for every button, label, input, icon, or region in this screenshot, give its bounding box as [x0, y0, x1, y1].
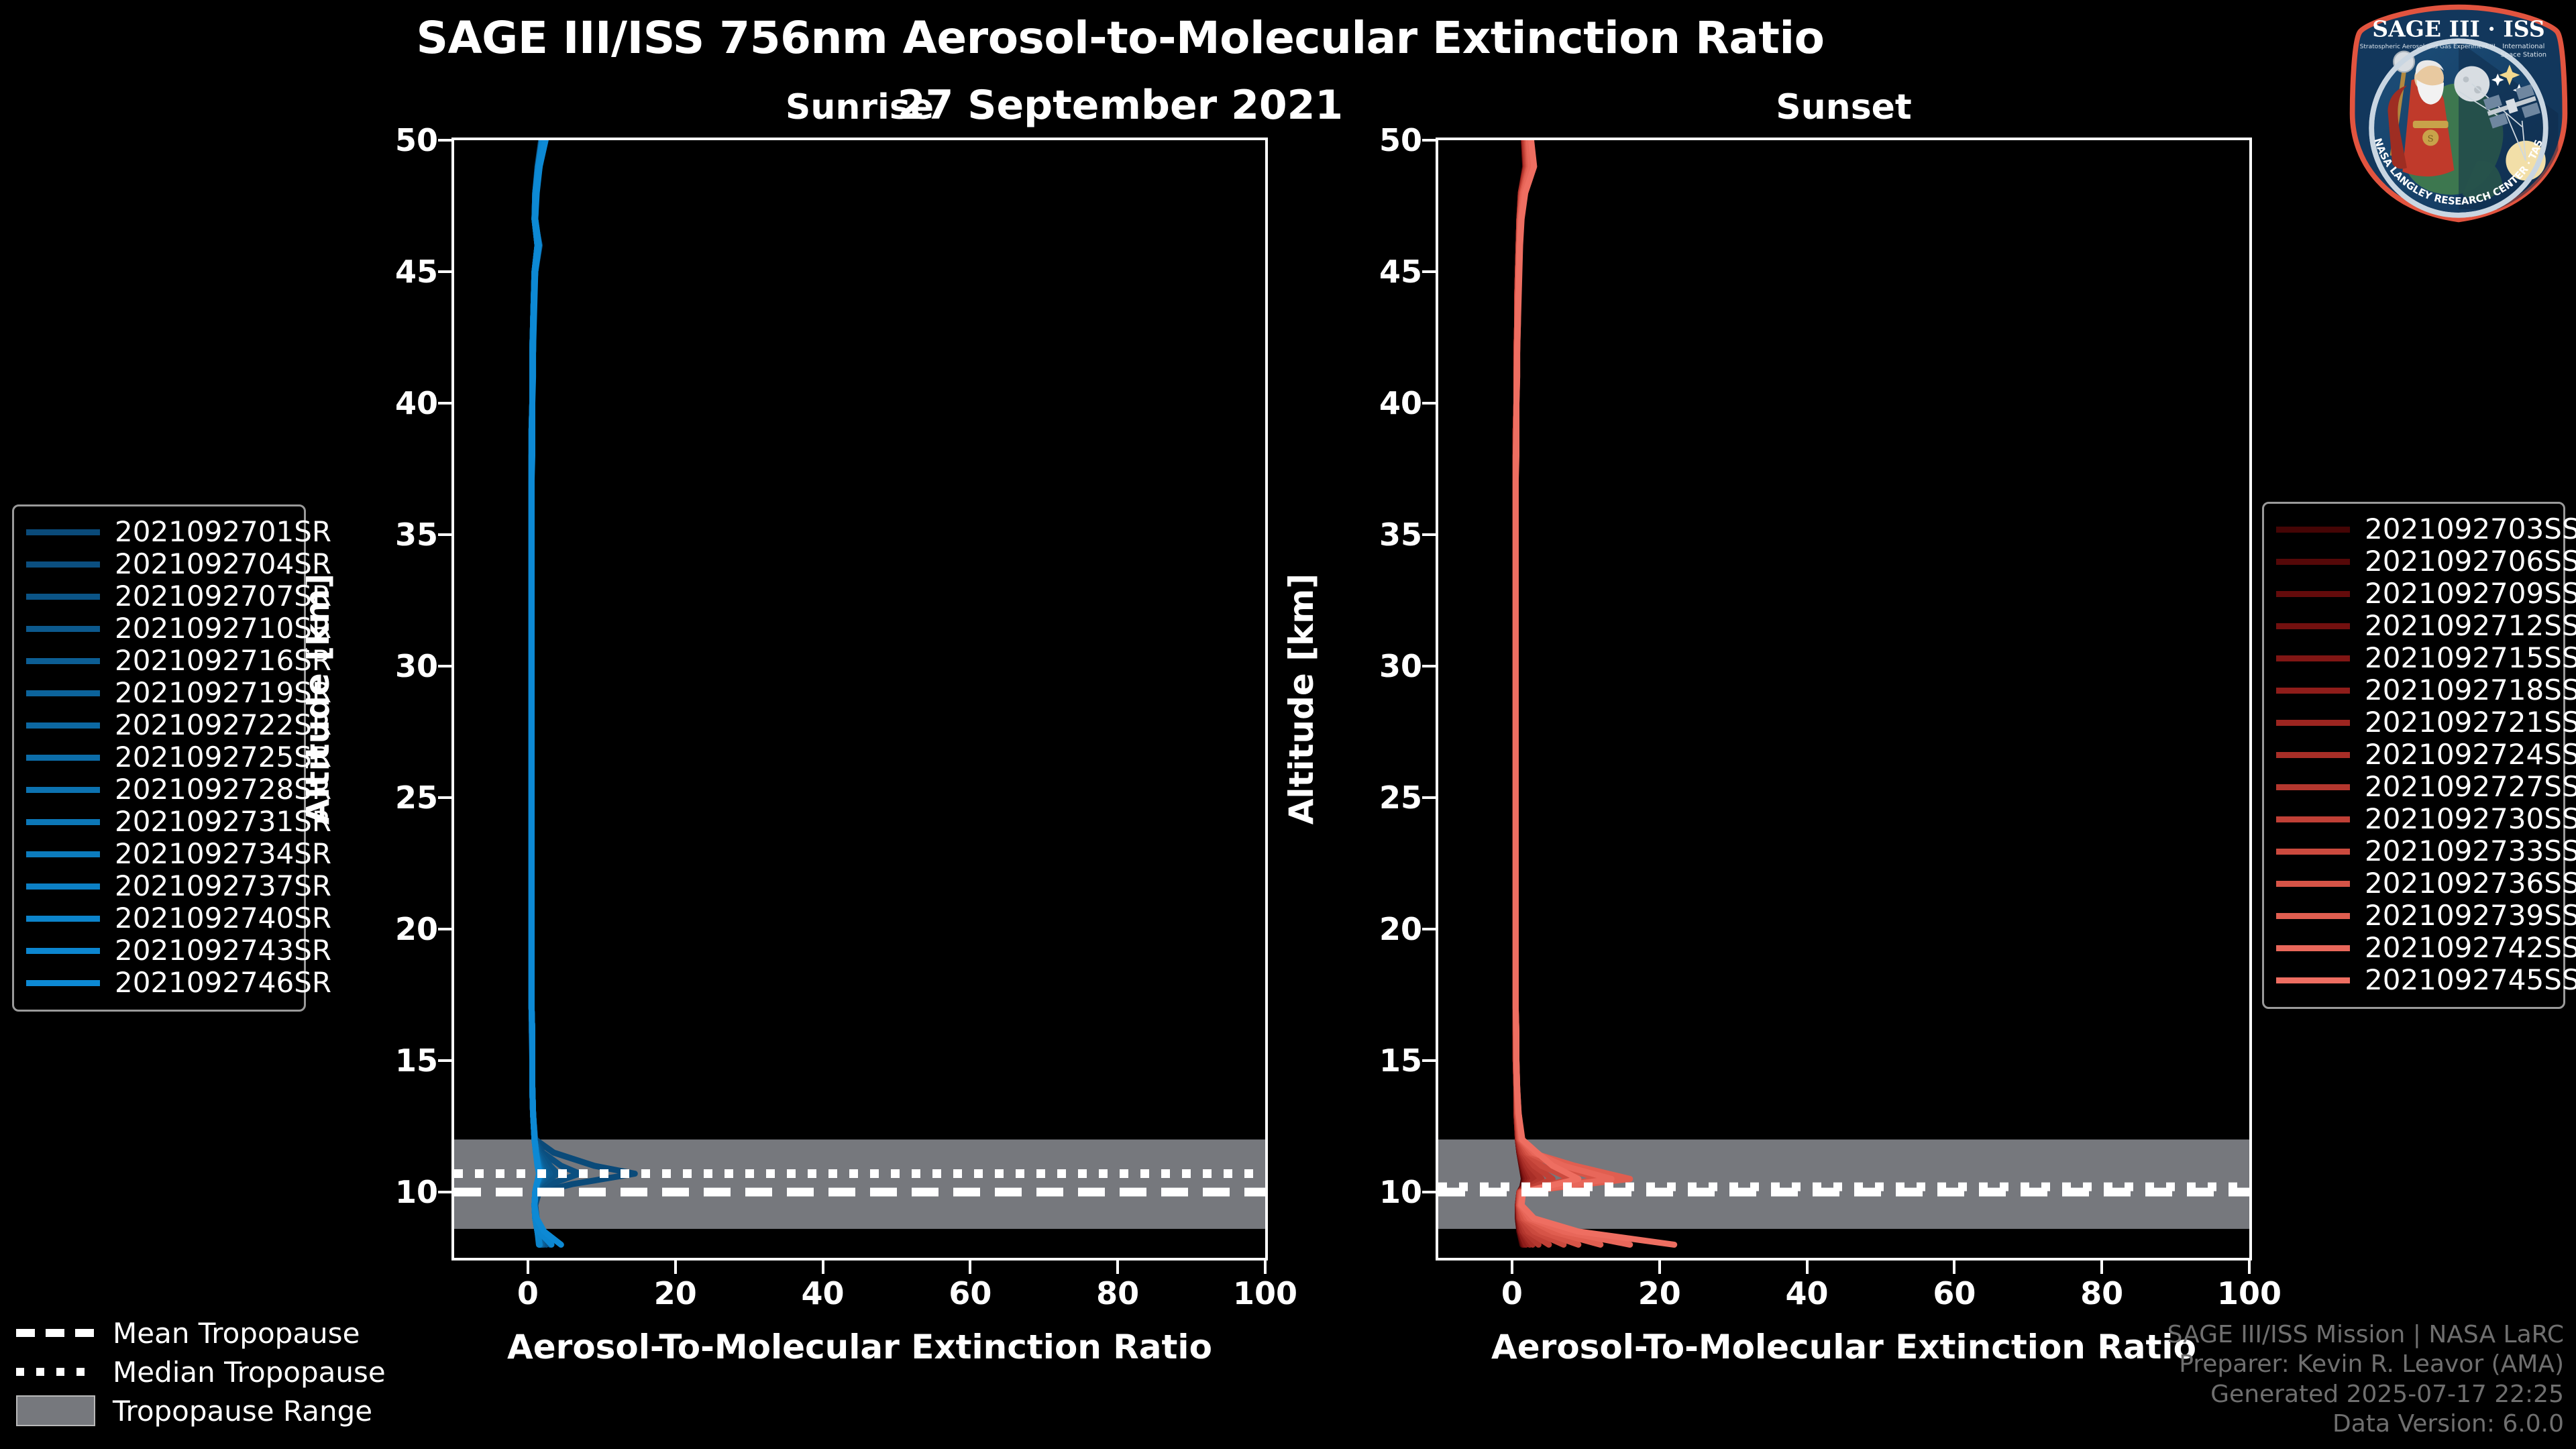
series-line-2021092742SS	[1515, 140, 1629, 1244]
legend-color-swatch	[2276, 752, 2350, 758]
y-tick-mark	[438, 796, 451, 799]
series-line-2021092701SR	[531, 140, 635, 1244]
sunset-legend-item[interactable]: 2021092706SS	[2276, 545, 2551, 578]
sunrise-panel-title: Sunrise	[451, 87, 1268, 127]
sunset-legend-item[interactable]: 2021092745SS	[2276, 964, 2551, 996]
legend-color-swatch	[2276, 881, 2350, 887]
legend-item-label: 2021092710SR	[115, 614, 331, 643]
y-tick-label: 50	[1328, 122, 1422, 158]
x-tick-label: 40	[769, 1275, 877, 1311]
x-tick-mark	[1511, 1260, 1513, 1274]
y-tick-mark	[438, 928, 451, 930]
footer-line: Data Version: 6.0.0	[2167, 1409, 2564, 1440]
legend-color-swatch	[2276, 591, 2350, 597]
legend-item-label: 2021092724SS	[2365, 741, 2576, 769]
legend-color-swatch	[2276, 913, 2350, 919]
legend-item-label: 2021092718SS	[2365, 676, 2576, 704]
logo-subtitle-left: Stratospheric Aerosol and Gas Experiment…	[2360, 44, 2495, 50]
legend-item-label: 2021092701SR	[115, 518, 331, 546]
y-tick-mark	[1422, 270, 1436, 273]
legend-item-label: 2021092703SS	[2365, 515, 2576, 543]
legend-color-swatch	[2276, 720, 2350, 726]
y-tick-mark	[1422, 139, 1436, 142]
legend-item-label: 2021092742SS	[2365, 934, 2576, 962]
y-tick-mark	[438, 533, 451, 536]
x-tick-mark	[1658, 1260, 1661, 1274]
footer-line: Generated 2025-07-17 22:25	[2167, 1380, 2564, 1410]
y-tick-label: 35	[344, 517, 438, 553]
sunrise-legend-item[interactable]: 2021092722SR	[26, 709, 292, 741]
tropopause-legend: Mean TropopauseMedian TropopauseTropopau…	[16, 1313, 378, 1430]
x-tick-mark	[2100, 1260, 2103, 1274]
sunrise-legend-item[interactable]: 2021092731SR	[26, 806, 292, 838]
y-tick-mark	[1422, 796, 1436, 799]
tropopause-legend-item: Median Tropopause	[16, 1352, 378, 1391]
legend-item-label: 2021092736SS	[2365, 869, 2576, 898]
sunset-legend-item[interactable]: 2021092721SS	[2276, 706, 2551, 739]
sunrise-plot-area	[451, 138, 1268, 1260]
legend-color-swatch	[2276, 945, 2350, 951]
tropopause-legend-label: Tropopause Range	[113, 1395, 372, 1428]
legend-item-label: 2021092733SS	[2365, 837, 2576, 865]
y-tick-label: 50	[344, 122, 438, 158]
sunset-legend-item[interactable]: 2021092730SS	[2276, 803, 2551, 835]
sunset-legend-item[interactable]: 2021092718SS	[2276, 674, 2551, 706]
series-line-2021092739SS	[1515, 140, 1629, 1244]
sunset-legend-item[interactable]: 2021092703SS	[2276, 513, 2551, 545]
y-tick-mark	[438, 1191, 451, 1193]
legend-item-label: 2021092739SS	[2365, 902, 2576, 930]
sage-iii-iss-mission-patch-logo: S SAGE III · ISS Stratospheric Aerosol a…	[2348, 3, 2569, 224]
y-tick-label: 40	[1328, 385, 1422, 421]
sunset-legend-item[interactable]: 2021092712SS	[2276, 610, 2551, 642]
sunrise-legend-item[interactable]: 2021092716SR	[26, 645, 292, 677]
legend-item-label: 2021092740SR	[115, 904, 331, 932]
legend-color-swatch	[26, 690, 100, 696]
x-tick-label: 60	[1900, 1275, 2008, 1311]
y-tick-label: 15	[1328, 1042, 1422, 1079]
legend-item-label: 2021092712SS	[2365, 612, 2576, 640]
x-tick-label: 0	[474, 1275, 582, 1311]
legend-item-label: 2021092707SR	[115, 582, 331, 610]
sunrise-legend-item[interactable]: 2021092734SR	[26, 838, 292, 870]
sunset-series-legend[interactable]: 2021092703SS2021092706SS2021092709SS2021…	[2262, 502, 2565, 1009]
sunset-legend-item[interactable]: 2021092736SS	[2276, 867, 2551, 900]
legend-color-swatch	[26, 883, 100, 890]
sunrise-legend-item[interactable]: 2021092701SR	[26, 516, 292, 548]
legend-color-swatch	[2276, 688, 2350, 694]
y-tick-label: 30	[344, 648, 438, 684]
y-tick-mark	[1422, 928, 1436, 930]
y-tick-label: 10	[344, 1174, 438, 1210]
series-line-2021092745SS	[1515, 140, 1674, 1244]
y-tick-label: 20	[1328, 911, 1422, 947]
legend-item-label: 2021092706SS	[2365, 547, 2576, 576]
sunrise-legend-item[interactable]: 2021092725SR	[26, 741, 292, 773]
legend-item-label: 2021092746SR	[115, 969, 331, 997]
sunrise-legend-item[interactable]: 2021092740SR	[26, 902, 292, 934]
y-tick-mark	[1422, 1191, 1436, 1193]
y-tick-mark	[438, 665, 451, 667]
sunset-legend-item[interactable]: 2021092742SS	[2276, 932, 2551, 964]
y-tick-label: 30	[1328, 648, 1422, 684]
sunset-panel-title: Sunset	[1436, 87, 2252, 127]
legend-item-label: 2021092731SR	[115, 808, 331, 836]
x-tick-label: 40	[1754, 1275, 1861, 1311]
series-line-2021092704SR	[531, 140, 579, 1244]
y-tick-label: 25	[344, 780, 438, 816]
legend-color-swatch	[2276, 784, 2350, 790]
legend-color-swatch	[26, 658, 100, 664]
sunset-legend-item[interactable]: 2021092733SS	[2276, 835, 2551, 867]
x-tick-mark	[1953, 1260, 1955, 1274]
page-title: SAGE III/ISS 756nm Aerosol-to-Molecular …	[0, 12, 2241, 64]
y-tick-label: 10	[1328, 1174, 1422, 1210]
legend-item-label: 2021092745SS	[2365, 966, 2576, 994]
tropopause-legend-item: Tropopause Range	[16, 1391, 378, 1430]
legend-color-swatch	[2276, 559, 2350, 565]
y-tick-label: 20	[344, 911, 438, 947]
legend-item-label: 2021092709SS	[2365, 580, 2576, 608]
y-tick-mark	[1422, 402, 1436, 405]
legend-color-swatch	[26, 980, 100, 986]
legend-color-swatch	[26, 626, 100, 632]
x-tick-mark	[969, 1260, 971, 1274]
x-tick-label: 80	[1064, 1275, 1171, 1311]
svg-text:S: S	[2428, 134, 2434, 144]
sunset-plot-area	[1436, 138, 2252, 1260]
x-tick-mark	[2248, 1260, 2251, 1274]
x-axis-title: Aerosol-To-Molecular Extinction Ratio	[1436, 1328, 2252, 1366]
sunset-legend-item[interactable]: 2021092709SS	[2276, 578, 2551, 610]
legend-color-swatch	[2276, 977, 2350, 983]
legend-item-label: 2021092719SR	[115, 679, 331, 707]
legend-item-label: 2021092743SR	[115, 936, 331, 965]
logo-subtitle-right-line2: Space Station	[2501, 51, 2546, 58]
series-line-2021092746SR	[531, 140, 561, 1244]
legend-item-label: 2021092728SR	[115, 775, 331, 804]
x-tick-label: 20	[1606, 1275, 1713, 1311]
footer-line: Preparer: Kevin R. Leavor (AMA)	[2167, 1350, 2564, 1380]
x-tick-mark	[1806, 1260, 1809, 1274]
sunset-legend-item[interactable]: 2021092715SS	[2276, 642, 2551, 674]
legend-color-swatch	[26, 819, 100, 825]
x-tick-mark	[527, 1260, 529, 1274]
y-tick-label: 25	[1328, 780, 1422, 816]
legend-item-label: 2021092715SS	[2365, 644, 2576, 672]
y-tick-mark	[1422, 533, 1436, 536]
y-tick-mark	[438, 139, 451, 142]
x-tick-label: 80	[2048, 1275, 2155, 1311]
y-tick-label: 15	[344, 1042, 438, 1079]
legend-item-label: 2021092737SR	[115, 872, 331, 900]
sunset-legend-item[interactable]: 2021092727SS	[2276, 771, 2551, 803]
x-tick-label: 100	[2196, 1275, 2303, 1311]
y-tick-mark	[1422, 665, 1436, 667]
mean-tropopause-key-icon	[16, 1323, 95, 1343]
x-tick-mark	[1116, 1260, 1119, 1274]
sunrise-plot-canvas	[454, 140, 1265, 1258]
x-axis-title: Aerosol-To-Molecular Extinction Ratio	[451, 1328, 1268, 1366]
sunrise-legend-item[interactable]: 2021092719SR	[26, 677, 292, 709]
footer-line: SAGE III/ISS Mission | NASA LaRC	[2167, 1320, 2564, 1350]
sunrise-legend-item[interactable]: 2021092746SR	[26, 967, 292, 999]
legend-color-swatch	[26, 529, 100, 535]
legend-color-swatch	[26, 948, 100, 954]
legend-color-swatch	[26, 851, 100, 857]
sunrise-legend-item[interactable]: 2021092704SR	[26, 548, 292, 580]
sunrise-legend-item[interactable]: 2021092707SR	[26, 580, 292, 612]
y-tick-label: 45	[1328, 254, 1422, 290]
legend-color-swatch	[26, 561, 100, 568]
x-tick-label: 60	[916, 1275, 1024, 1311]
sunrise-legend-item[interactable]: 2021092710SR	[26, 612, 292, 645]
x-tick-label: 0	[1458, 1275, 1566, 1311]
legend-color-swatch	[2276, 527, 2350, 533]
legend-item-label: 2021092734SR	[115, 840, 331, 868]
legend-color-swatch	[26, 787, 100, 793]
tropopause-range-key-icon	[16, 1401, 95, 1421]
series-line-2021092736SS	[1515, 140, 1600, 1244]
tropopause-legend-label: Median Tropopause	[113, 1356, 386, 1389]
legend-item-label: 2021092725SR	[115, 743, 331, 771]
legend-item-label: 2021092730SS	[2365, 805, 2576, 833]
sunset-legend-item[interactable]: 2021092739SS	[2276, 900, 2551, 932]
footer-credits: SAGE III/ISS Mission | NASA LaRCPreparer…	[2167, 1320, 2564, 1440]
y-tick-mark	[438, 402, 451, 405]
y-tick-label: 35	[1328, 517, 1422, 553]
sunset-plot-canvas	[1438, 140, 2249, 1258]
legend-color-swatch	[2276, 849, 2350, 855]
sunrise-series-legend[interactable]: 2021092701SR2021092704SR2021092707SR2021…	[12, 504, 306, 1012]
sunset-legend-item[interactable]: 2021092724SS	[2276, 739, 2551, 771]
legend-item-label: 2021092716SR	[115, 647, 331, 675]
tropopause-legend-label: Mean Tropopause	[113, 1317, 360, 1350]
legend-item-label: 2021092721SS	[2365, 708, 2576, 737]
legend-color-swatch	[2276, 816, 2350, 822]
legend-item-label: 2021092722SR	[115, 711, 331, 739]
y-axis-title: Altitude [km]	[1282, 551, 1321, 847]
y-tick-mark	[438, 1059, 451, 1062]
y-tick-label: 40	[344, 385, 438, 421]
legend-color-swatch	[26, 594, 100, 600]
tropopause-legend-item: Mean Tropopause	[16, 1313, 378, 1352]
median-tropopause-key-icon	[16, 1362, 95, 1382]
x-tick-label: 100	[1212, 1275, 1319, 1311]
logo-title: SAGE III · ISS	[2372, 16, 2544, 42]
sunrise-legend-item[interactable]: 2021092737SR	[26, 870, 292, 902]
y-tick-mark	[1422, 1059, 1436, 1062]
legend-item-label: 2021092704SR	[115, 550, 331, 578]
y-tick-label: 45	[344, 254, 438, 290]
legend-item-label: 2021092727SS	[2365, 773, 2576, 801]
legend-color-swatch	[2276, 655, 2350, 661]
x-tick-mark	[674, 1260, 677, 1274]
logo-subtitle-right-line1: International	[2502, 43, 2544, 50]
x-tick-mark	[1264, 1260, 1267, 1274]
series-line-2021092733SS	[1515, 140, 1570, 1244]
legend-color-swatch	[26, 722, 100, 729]
x-tick-label: 20	[622, 1275, 729, 1311]
legend-color-swatch	[26, 916, 100, 922]
legend-color-swatch	[26, 755, 100, 761]
y-tick-mark	[438, 270, 451, 273]
x-tick-mark	[822, 1260, 824, 1274]
sunrise-legend-item[interactable]: 2021092728SR	[26, 773, 292, 806]
sunrise-legend-item[interactable]: 2021092743SR	[26, 934, 292, 967]
legend-color-swatch	[2276, 623, 2350, 629]
